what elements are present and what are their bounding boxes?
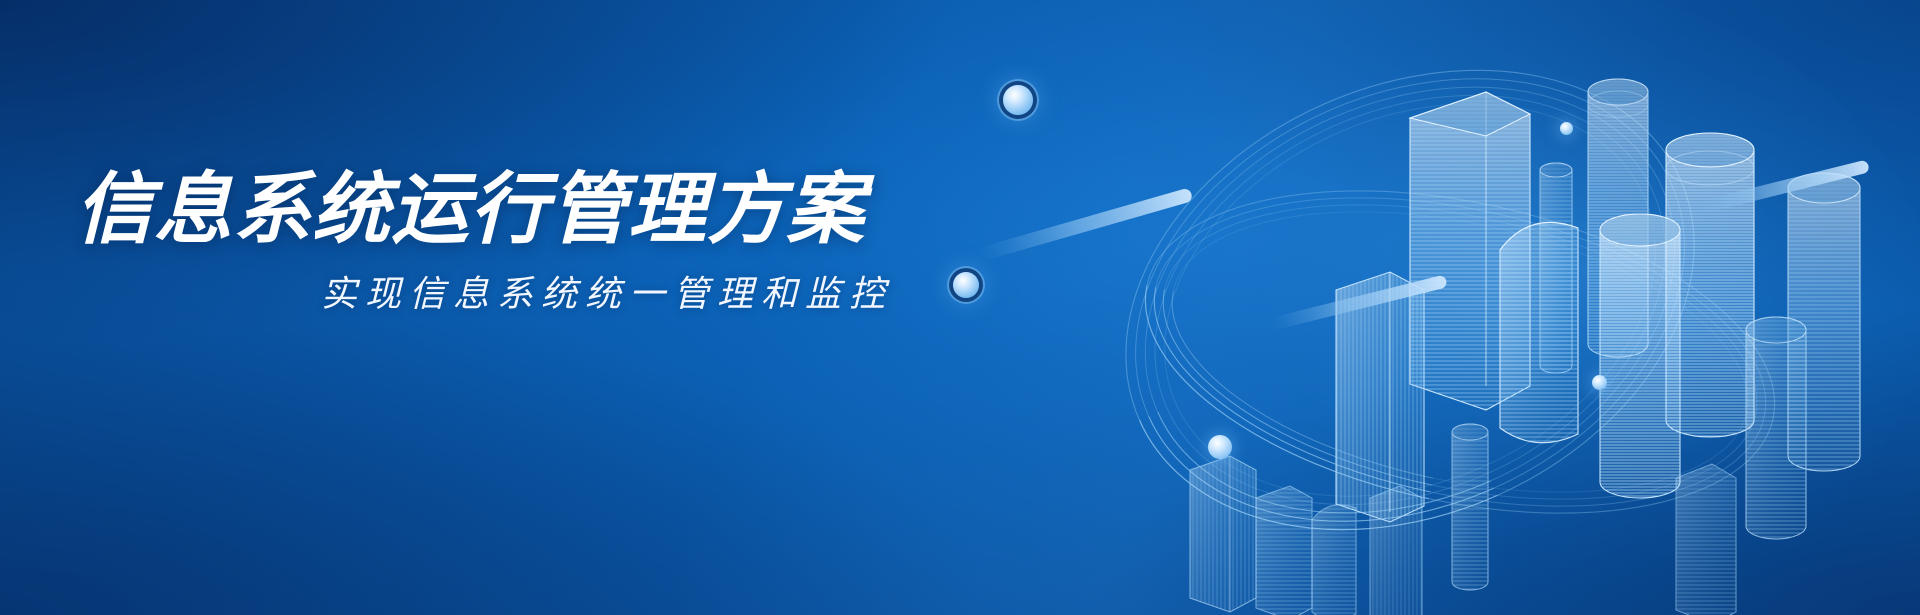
- hero-banner: 信息系统运行管理方案 实现信息系统统一管理和监控: [0, 0, 1920, 615]
- headline-block: 信息系统运行管理方案 实现信息系统统一管理和监控: [75, 170, 905, 315]
- banner-title: 信息系统运行管理方案: [75, 170, 905, 250]
- banner-subtitle: 实现信息系统统一管理和监控: [75, 272, 905, 315]
